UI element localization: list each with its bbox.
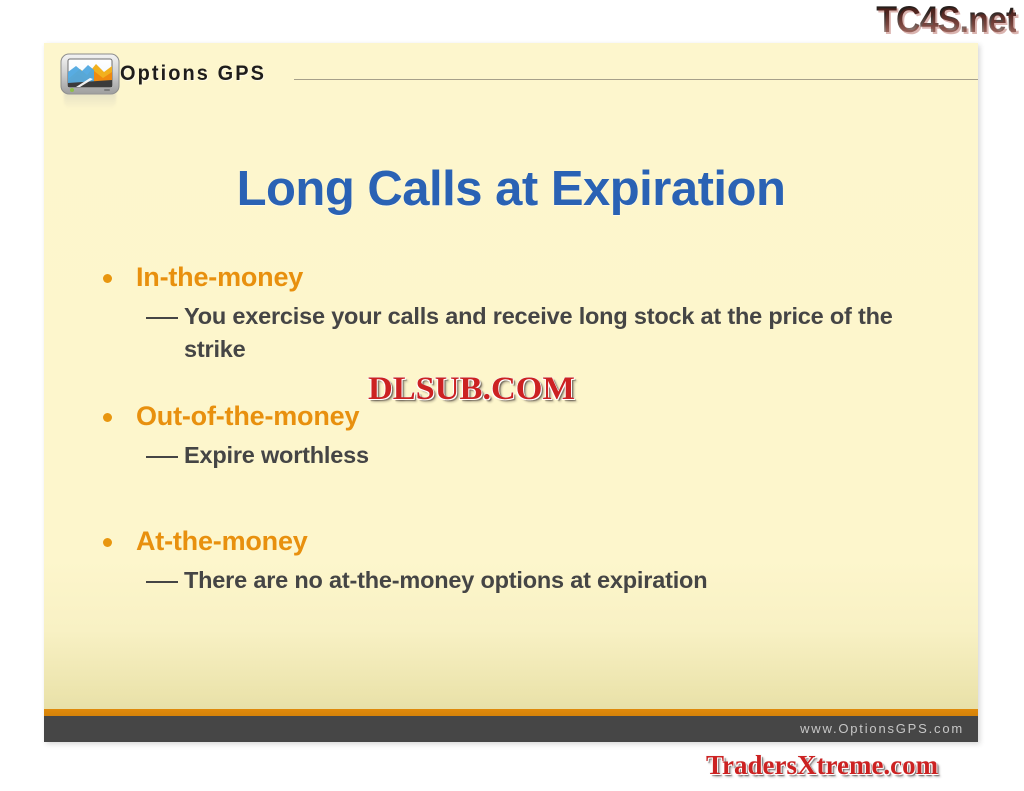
- footer-accent-stripe: [44, 709, 978, 716]
- gps-device-icon: [60, 52, 120, 97]
- bullet-sub-label: Expire worthless: [184, 442, 369, 468]
- bullet-item-level2: Expire worthless: [94, 439, 954, 472]
- slide-header: Options GPS: [44, 43, 978, 101]
- bullet-dot-icon: [103, 413, 112, 422]
- em-dash-icon: [146, 581, 178, 583]
- watermark-tradersxtreme: TradersXtreme.com: [706, 750, 938, 781]
- bullet-dot-icon: [103, 274, 112, 283]
- bullet-item-level2: You exercise your calls and receive long…: [94, 300, 954, 366]
- bullet-dot-icon: [103, 538, 112, 547]
- slide-footer: www.OptionsGPS.com: [44, 716, 978, 742]
- bullet-item-level2: There are no at-the-money options at exp…: [94, 564, 954, 597]
- page-title: Long Calls at Expiration: [44, 160, 978, 218]
- slide-body: In-the-money You exercise your calls and…: [94, 258, 954, 597]
- bullet-group: At-the-money There are no at-the-money o…: [94, 522, 954, 597]
- site-brand-tc4s: TC4S.net: [876, 0, 1016, 40]
- bullet-sub-label: There are no at-the-money options at exp…: [184, 567, 707, 593]
- bullet-sub-label: You exercise your calls and receive long…: [184, 303, 893, 362]
- watermark-dlsub: DLSUB.COM: [368, 371, 575, 408]
- logo-wordmark: Options GPS: [120, 62, 266, 86]
- footer-website-url: www.OptionsGPS.com: [800, 721, 964, 736]
- bullet-label: Out-of-the-money: [136, 401, 359, 431]
- em-dash-icon: [146, 456, 178, 458]
- bullet-label: At-the-money: [136, 526, 308, 556]
- bullet-label: In-the-money: [136, 262, 303, 292]
- logo-reflection: [64, 93, 116, 109]
- bullet-item-level1: At-the-money: [94, 522, 954, 560]
- em-dash-icon: [146, 317, 178, 319]
- header-divider: [294, 79, 978, 80]
- bullet-item-level1: In-the-money: [94, 258, 954, 296]
- bullet-group: Out-of-the-money Expire worthless: [94, 397, 954, 472]
- bullet-group: In-the-money You exercise your calls and…: [94, 258, 954, 366]
